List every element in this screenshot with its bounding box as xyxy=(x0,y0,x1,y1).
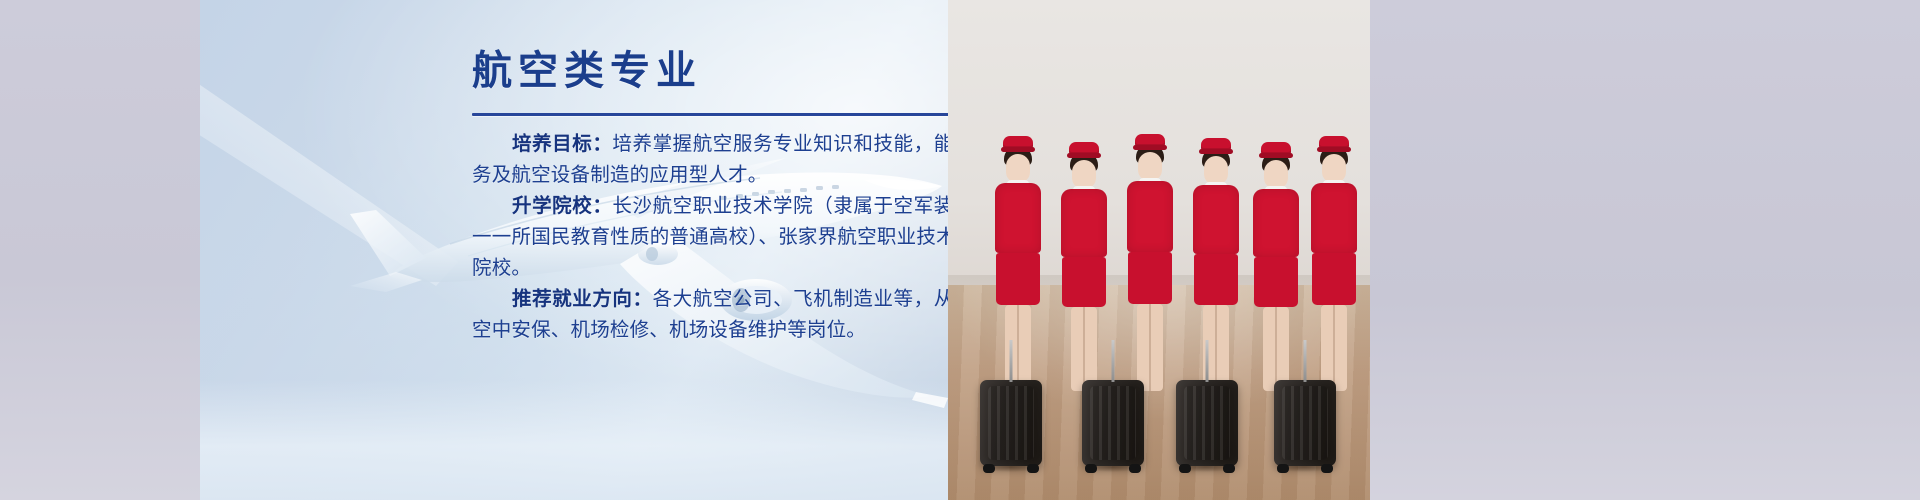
paragraph-further-study: 升学院校：长沙航空职业技术学院（隶属于空军装备部，是全军唯一一所国民教育性质的普… xyxy=(472,191,948,284)
paragraph-employment: 推荐就业方向：各大航空公司、飞机制造业等，从事空中乘务员、空中安保、机场检修、机… xyxy=(472,284,948,346)
suitcase xyxy=(1082,380,1144,466)
label-training-goal: 培养目标： xyxy=(512,133,612,155)
suitcase xyxy=(1176,380,1238,466)
label-employment: 推荐就业方向： xyxy=(512,288,653,310)
info-panel: 航空类专业 培养目标：培养掌握航空服务专业知识和技能，能从事航空运输服务及航空设… xyxy=(200,0,948,500)
crew-figures xyxy=(948,0,1370,500)
description-block: 培养目标：培养掌握航空服务专业知识和技能，能从事航空运输服务及航空设备制造的应用… xyxy=(472,129,948,346)
suitcase xyxy=(980,380,1042,466)
banner-content: 航空类专业 培养目标：培养掌握航空服务专业知识和技能，能从事航空运输服务及航空设… xyxy=(472,48,948,346)
paragraph-training-goal: 培养目标：培养掌握航空服务专业知识和技能，能从事航空运输服务及航空设备制造的应用… xyxy=(472,129,948,191)
flight-attendant-crew-photo xyxy=(948,0,1370,500)
aviation-major-banner: 航空类专业 培养目标：培养掌握航空服务专业知识和技能，能从事航空运输服务及航空设… xyxy=(0,0,1920,500)
label-further-study: 升学院校： xyxy=(512,195,612,217)
right-margin-background xyxy=(1370,0,1920,500)
title-divider xyxy=(472,113,948,116)
suitcase xyxy=(1274,380,1336,466)
page-title: 航空类专业 xyxy=(472,48,948,95)
